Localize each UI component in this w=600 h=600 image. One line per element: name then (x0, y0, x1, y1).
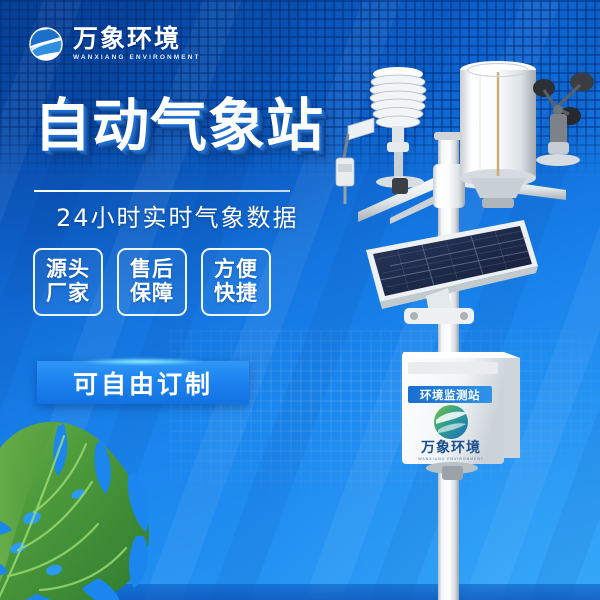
badge-line-2: 保障 (130, 282, 174, 306)
badge-convenient-fast[interactable]: 方便 快捷 (201, 248, 271, 316)
control-box-label: 环境监测站 (420, 388, 480, 402)
page-subtitle: 24小时实时气象数据 (56, 198, 299, 233)
page-title: 自动气象站 (34, 98, 324, 155)
badge-after-sales-guarantee[interactable]: 售后 保障 (117, 248, 187, 316)
customize-cta-button[interactable]: 可自由订制 (37, 361, 249, 404)
badge-line-1: 售后 (130, 258, 174, 282)
control-box-brand-cn: 万象环境 (420, 439, 481, 456)
weather-station-product-image: 环境监测站 万象环境 WANXIANG ENVIRONMENT (330, 52, 600, 600)
globe-swoosh-logo-icon (26, 24, 66, 64)
feature-badge-group: 源头 厂家 售后 保障 方便 快捷 (33, 248, 271, 316)
monstera-leaf-decoration (0, 418, 188, 600)
control-box-logo-icon (434, 405, 468, 439)
control-enclosure: 环境监测站 万象环境 WANXIANG ENVIRONMENT (402, 352, 520, 480)
badge-line-2: 快捷 (214, 282, 258, 306)
product-banner: 万象环境 WANXIANG ENVIRONMENT 自动气象站 24小时实时气象… (0, 0, 600, 600)
brand-logo: 万象环境 WANXIANG ENVIRONMENT (26, 24, 201, 64)
radiation-shield-sensor (370, 67, 426, 194)
badge-line-1: 源头 (46, 258, 90, 282)
badge-line-1: 方便 (214, 258, 258, 282)
brand-name-en: WANXIANG ENVIRONMENT (73, 55, 201, 62)
anemometer-cup-sensor (533, 73, 594, 167)
brand-name-cn: 万象环境 (73, 26, 201, 51)
control-box-brand-en: WANXIANG ENVIRONMENT (418, 457, 484, 461)
title-divider (34, 190, 290, 192)
badge-source-manufacturer[interactable]: 源头 厂家 (33, 248, 103, 316)
wind-vane-sensor (336, 118, 374, 204)
badge-line-2: 厂家 (46, 282, 90, 306)
solar-panel (366, 220, 538, 324)
